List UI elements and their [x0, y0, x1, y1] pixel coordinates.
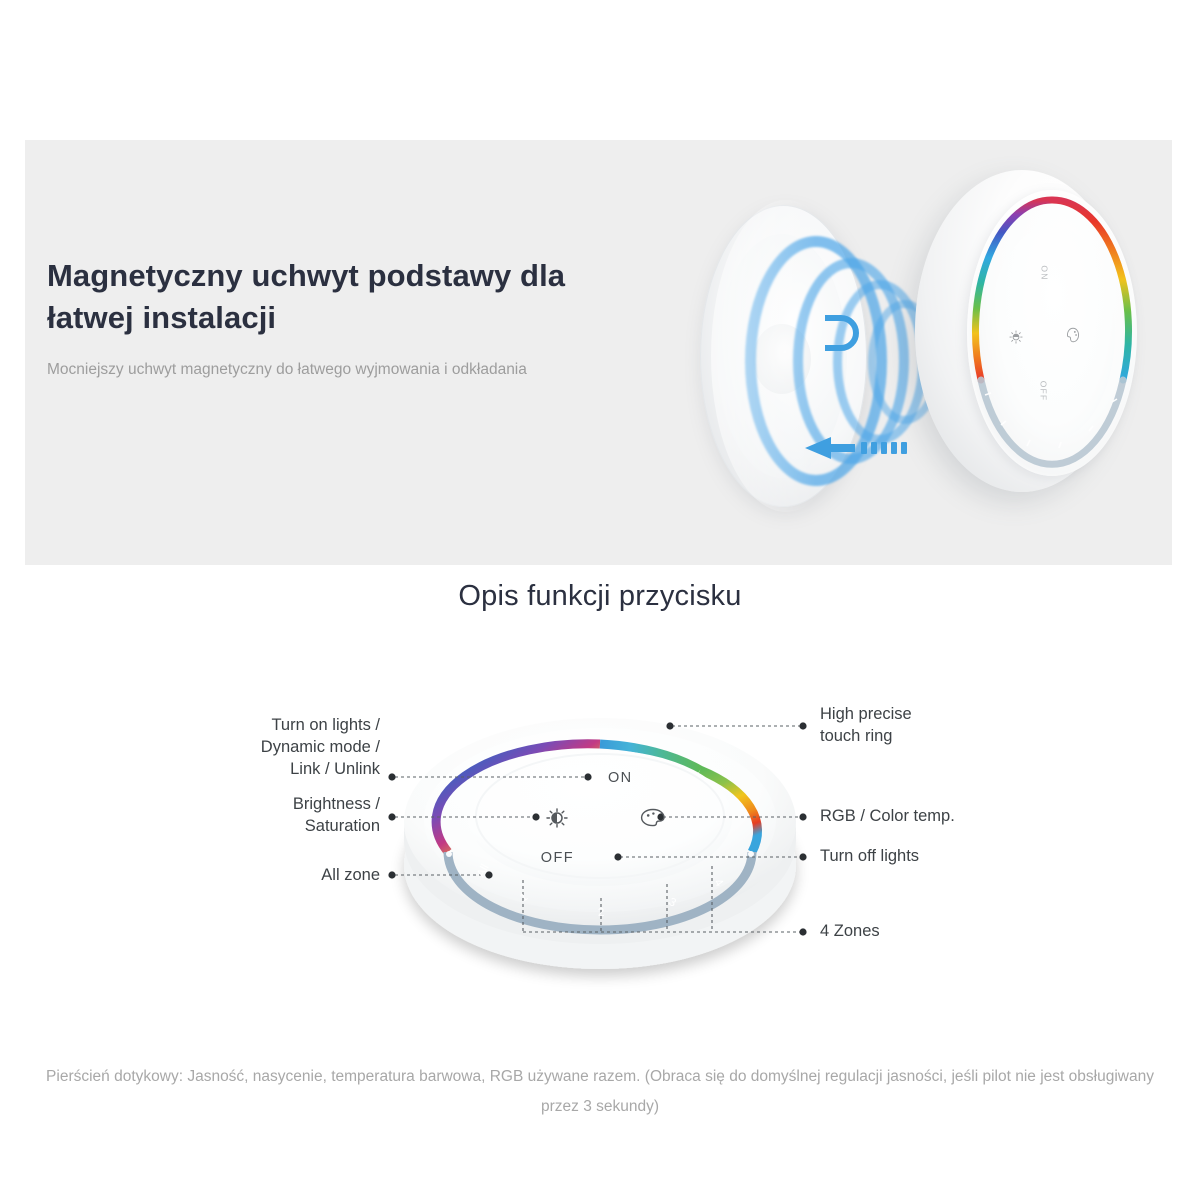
- remote-inner-face: [989, 226, 1115, 440]
- hero-on-label: ON: [1040, 265, 1050, 280]
- callout-all-zone: All zone: [60, 865, 380, 887]
- hero-illustration: ON OFF: [625, 140, 1172, 565]
- callout-turn-off-lights: Turn off lights: [820, 846, 1120, 868]
- callout-four-zones: 4 Zones: [820, 921, 1120, 943]
- palette-icon: [1066, 327, 1080, 343]
- hero-off-label: OFF: [1038, 381, 1048, 402]
- arrow-left-icon: [805, 435, 915, 461]
- zone-2-label: 2: [598, 907, 605, 919]
- callout-touch-ring: High precise touch ring: [820, 704, 1120, 748]
- zone-bracket-dot: [799, 928, 806, 935]
- magnet-icon: [821, 310, 861, 356]
- callout-rgb-color-temp: RGB / Color temp.: [820, 806, 1120, 828]
- off-label: OFF: [541, 850, 574, 866]
- half-sun-icon: [547, 809, 567, 827]
- callout-brightness-saturation: Brightness / Saturation: [60, 794, 380, 838]
- remote-device-3d: ON OFF: [915, 170, 1150, 500]
- callout-turn-on-lights: Turn on lights / Dynamic mode / Link / U…: [60, 715, 380, 780]
- hero-panel: Magnetyczny uchwyt podstawy dla łatwej i…: [25, 140, 1172, 565]
- half-sun-icon: [1009, 330, 1023, 344]
- footer-caption: Pierścień dotykowy: Jasność, nasycenie, …: [45, 1062, 1155, 1122]
- remote-device-flat: [404, 718, 796, 969]
- hero-subtitle: Mocniejszy uchwyt magnetyczny do łatwego…: [47, 357, 587, 383]
- page-title: Magnetyczny uchwyt podstawy dla łatwej i…: [47, 255, 607, 339]
- section-title: Opis funkcji przycisku: [0, 580, 1200, 613]
- on-label: ON: [608, 770, 633, 786]
- button-function-diagram: ON OFF All 1 2 3 4 Turn on lights / Dyna…: [0, 660, 1200, 1020]
- hero-text-block: Magnetyczny uchwyt podstawy dla łatwej i…: [47, 255, 607, 383]
